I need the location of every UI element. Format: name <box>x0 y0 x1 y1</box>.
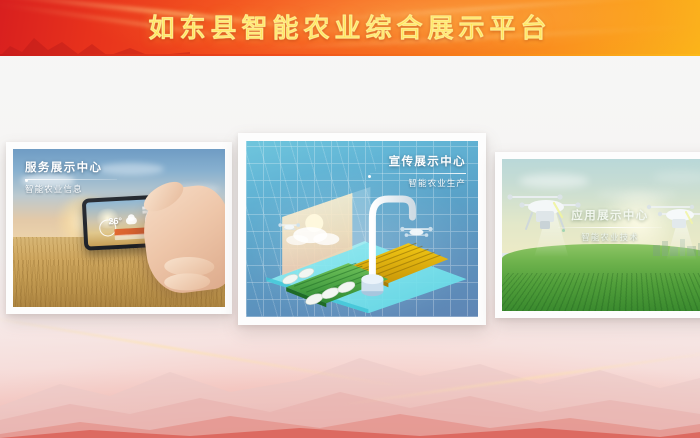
caption-divider <box>370 173 466 174</box>
card-caption-promotion: 宣传展示中心 智能农业生产 <box>370 155 466 189</box>
card-caption-service: 服务展示中心 智能农业信息 <box>25 161 117 195</box>
card-title: 应用展示中心 <box>558 209 662 224</box>
card-service-display-center[interactable]: 26° <box>6 142 232 314</box>
scene-application: 应用展示中心 智能农业技术 <box>502 159 700 311</box>
page-title: 如东县智能农业综合展示平台 <box>0 9 700 47</box>
caption-divider <box>25 179 117 180</box>
scene-service: 26° <box>13 149 225 307</box>
header-banner: 如东县智能农业综合展示平台 <box>0 0 700 56</box>
caption-divider <box>558 227 662 228</box>
weather-cloud-icon <box>126 217 137 225</box>
card-promotion-display-center[interactable]: 宣传展示中心 智能农业生产 <box>238 133 486 325</box>
card-title: 宣传展示中心 <box>370 155 466 170</box>
card-image-application: 应用展示中心 智能农业技术 <box>502 159 700 311</box>
banner-bottom-edge <box>0 54 700 56</box>
isometric-farm-icon <box>251 183 474 313</box>
card-subtitle: 智能农业生产 <box>370 177 466 189</box>
drone-icon <box>400 227 432 237</box>
display-platform-page: 如东县智能农业综合展示平台 26° <box>0 0 700 438</box>
card-image-promotion: 宣传展示中心 智能农业生产 <box>246 141 478 317</box>
card-title: 服务展示中心 <box>25 161 117 176</box>
card-caption-application: 应用展示中心 智能农业技术 <box>558 209 662 243</box>
card-application-display-center[interactable]: 应用展示中心 智能农业技术 <box>495 152 700 318</box>
card-subtitle: 智能农业技术 <box>558 231 662 243</box>
card-image-service: 26° <box>13 149 225 307</box>
finger-icon <box>164 273 210 291</box>
caption-dot <box>25 179 28 182</box>
scene-promotion: 宣传展示中心 智能农业生产 <box>246 141 478 317</box>
card-subtitle: 智能农业信息 <box>25 183 117 195</box>
